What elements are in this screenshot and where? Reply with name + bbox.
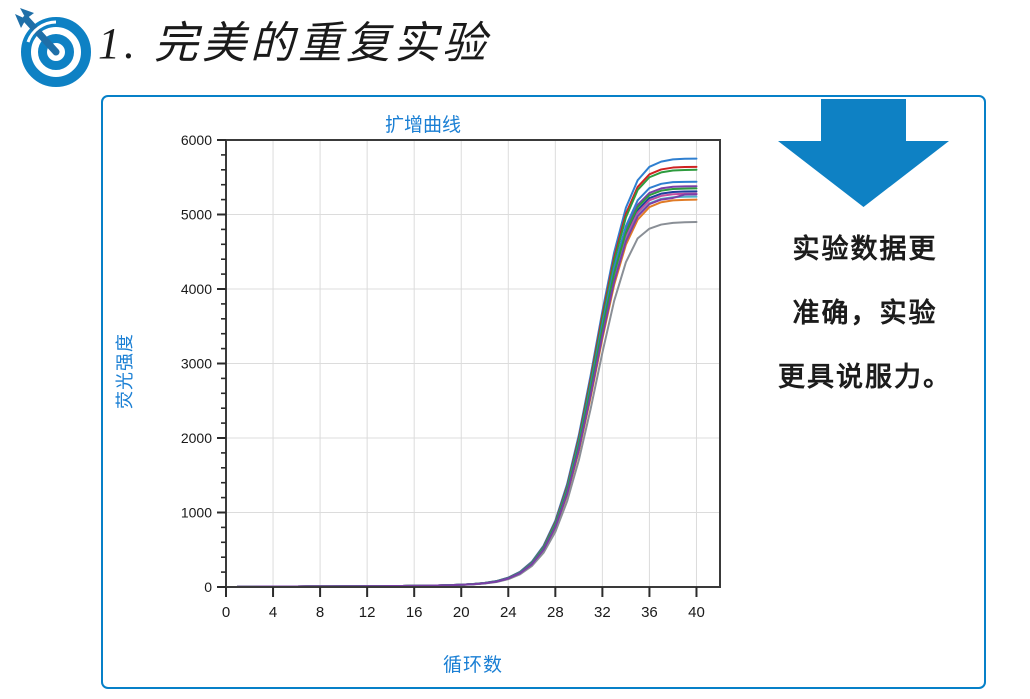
content-panel: 扩增曲线 荧光强度 循环数 01000200030004000500060000…	[101, 95, 986, 689]
callout-column: 实验数据更 准确，实验 更具说服力。	[743, 97, 984, 687]
svg-text:5000: 5000	[181, 207, 212, 223]
down-arrow-icon	[776, 99, 951, 209]
callout-line-1: 实验数据更	[749, 217, 981, 281]
svg-text:16: 16	[406, 604, 423, 621]
svg-text:24: 24	[500, 604, 517, 621]
svg-text:0: 0	[222, 604, 230, 621]
chart-axis-ticks	[217, 140, 696, 597]
svg-text:4000: 4000	[181, 281, 212, 297]
target-bullseye-arrow-icon	[4, 4, 98, 88]
callout-text: 实验数据更 准确，实验 更具说服力。	[749, 217, 981, 409]
svg-text:3000: 3000	[181, 356, 212, 372]
svg-text:40: 40	[688, 604, 705, 621]
chart-curves	[238, 159, 697, 587]
svg-text:8: 8	[316, 604, 324, 621]
svg-text:4: 4	[269, 604, 277, 621]
svg-text:28: 28	[547, 604, 564, 621]
svg-text:20: 20	[453, 604, 470, 621]
amplification-chart: 扩增曲线 荧光强度 循环数 01000200030004000500060000…	[108, 102, 738, 682]
svg-text:32: 32	[594, 604, 611, 621]
svg-text:1000: 1000	[181, 505, 212, 521]
page-title: 1. 完美的重复实验	[98, 8, 618, 80]
svg-text:12: 12	[359, 604, 376, 621]
svg-text:36: 36	[641, 604, 658, 621]
svg-text:6000: 6000	[181, 132, 212, 148]
callout-line-2: 准确，实验	[749, 281, 981, 345]
svg-text:0: 0	[204, 579, 212, 595]
page-header: 1. 完美的重复实验	[0, 0, 1030, 92]
svg-text:2000: 2000	[181, 430, 212, 446]
chart-x-axis-label: 循环数	[208, 650, 738, 677]
chart-plot-area: 0100020003000400050006000048121620242832…	[108, 132, 738, 647]
callout-line-3: 更具说服力。	[749, 345, 981, 409]
